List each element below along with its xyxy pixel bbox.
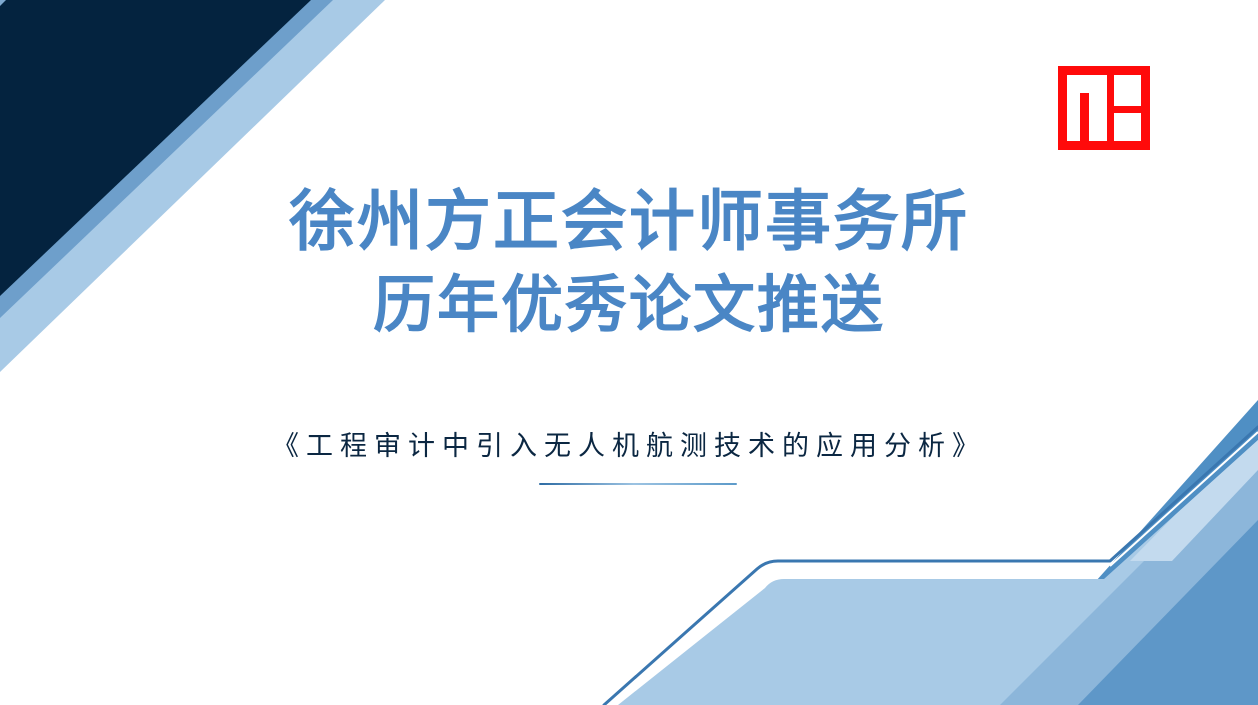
subtitle-paper-name: 《工程审计中引入无人机航测技术的应用分析》	[0, 424, 1258, 463]
founder-square-logo	[1058, 66, 1150, 150]
title-line-1: 徐州方正会计师事务所	[0, 182, 1258, 261]
slide-canvas: 徐州方正会计师事务所 历年优秀论文推送 《工程审计中引入无人机航测技术的应用分析…	[0, 0, 1258, 705]
logo-left-stem	[1080, 93, 1089, 141]
logo-right-bottom-field	[1114, 113, 1141, 141]
title-divider	[539, 483, 737, 485]
content-layer: 徐州方正会计师事务所 历年优秀论文推送 《工程审计中引入无人机航测技术的应用分析…	[0, 0, 1258, 705]
title-line-2: 历年优秀论文推送	[0, 269, 1258, 343]
logo-right-top-field	[1114, 75, 1141, 106]
page-title: 徐州方正会计师事务所 历年优秀论文推送	[0, 182, 1258, 344]
